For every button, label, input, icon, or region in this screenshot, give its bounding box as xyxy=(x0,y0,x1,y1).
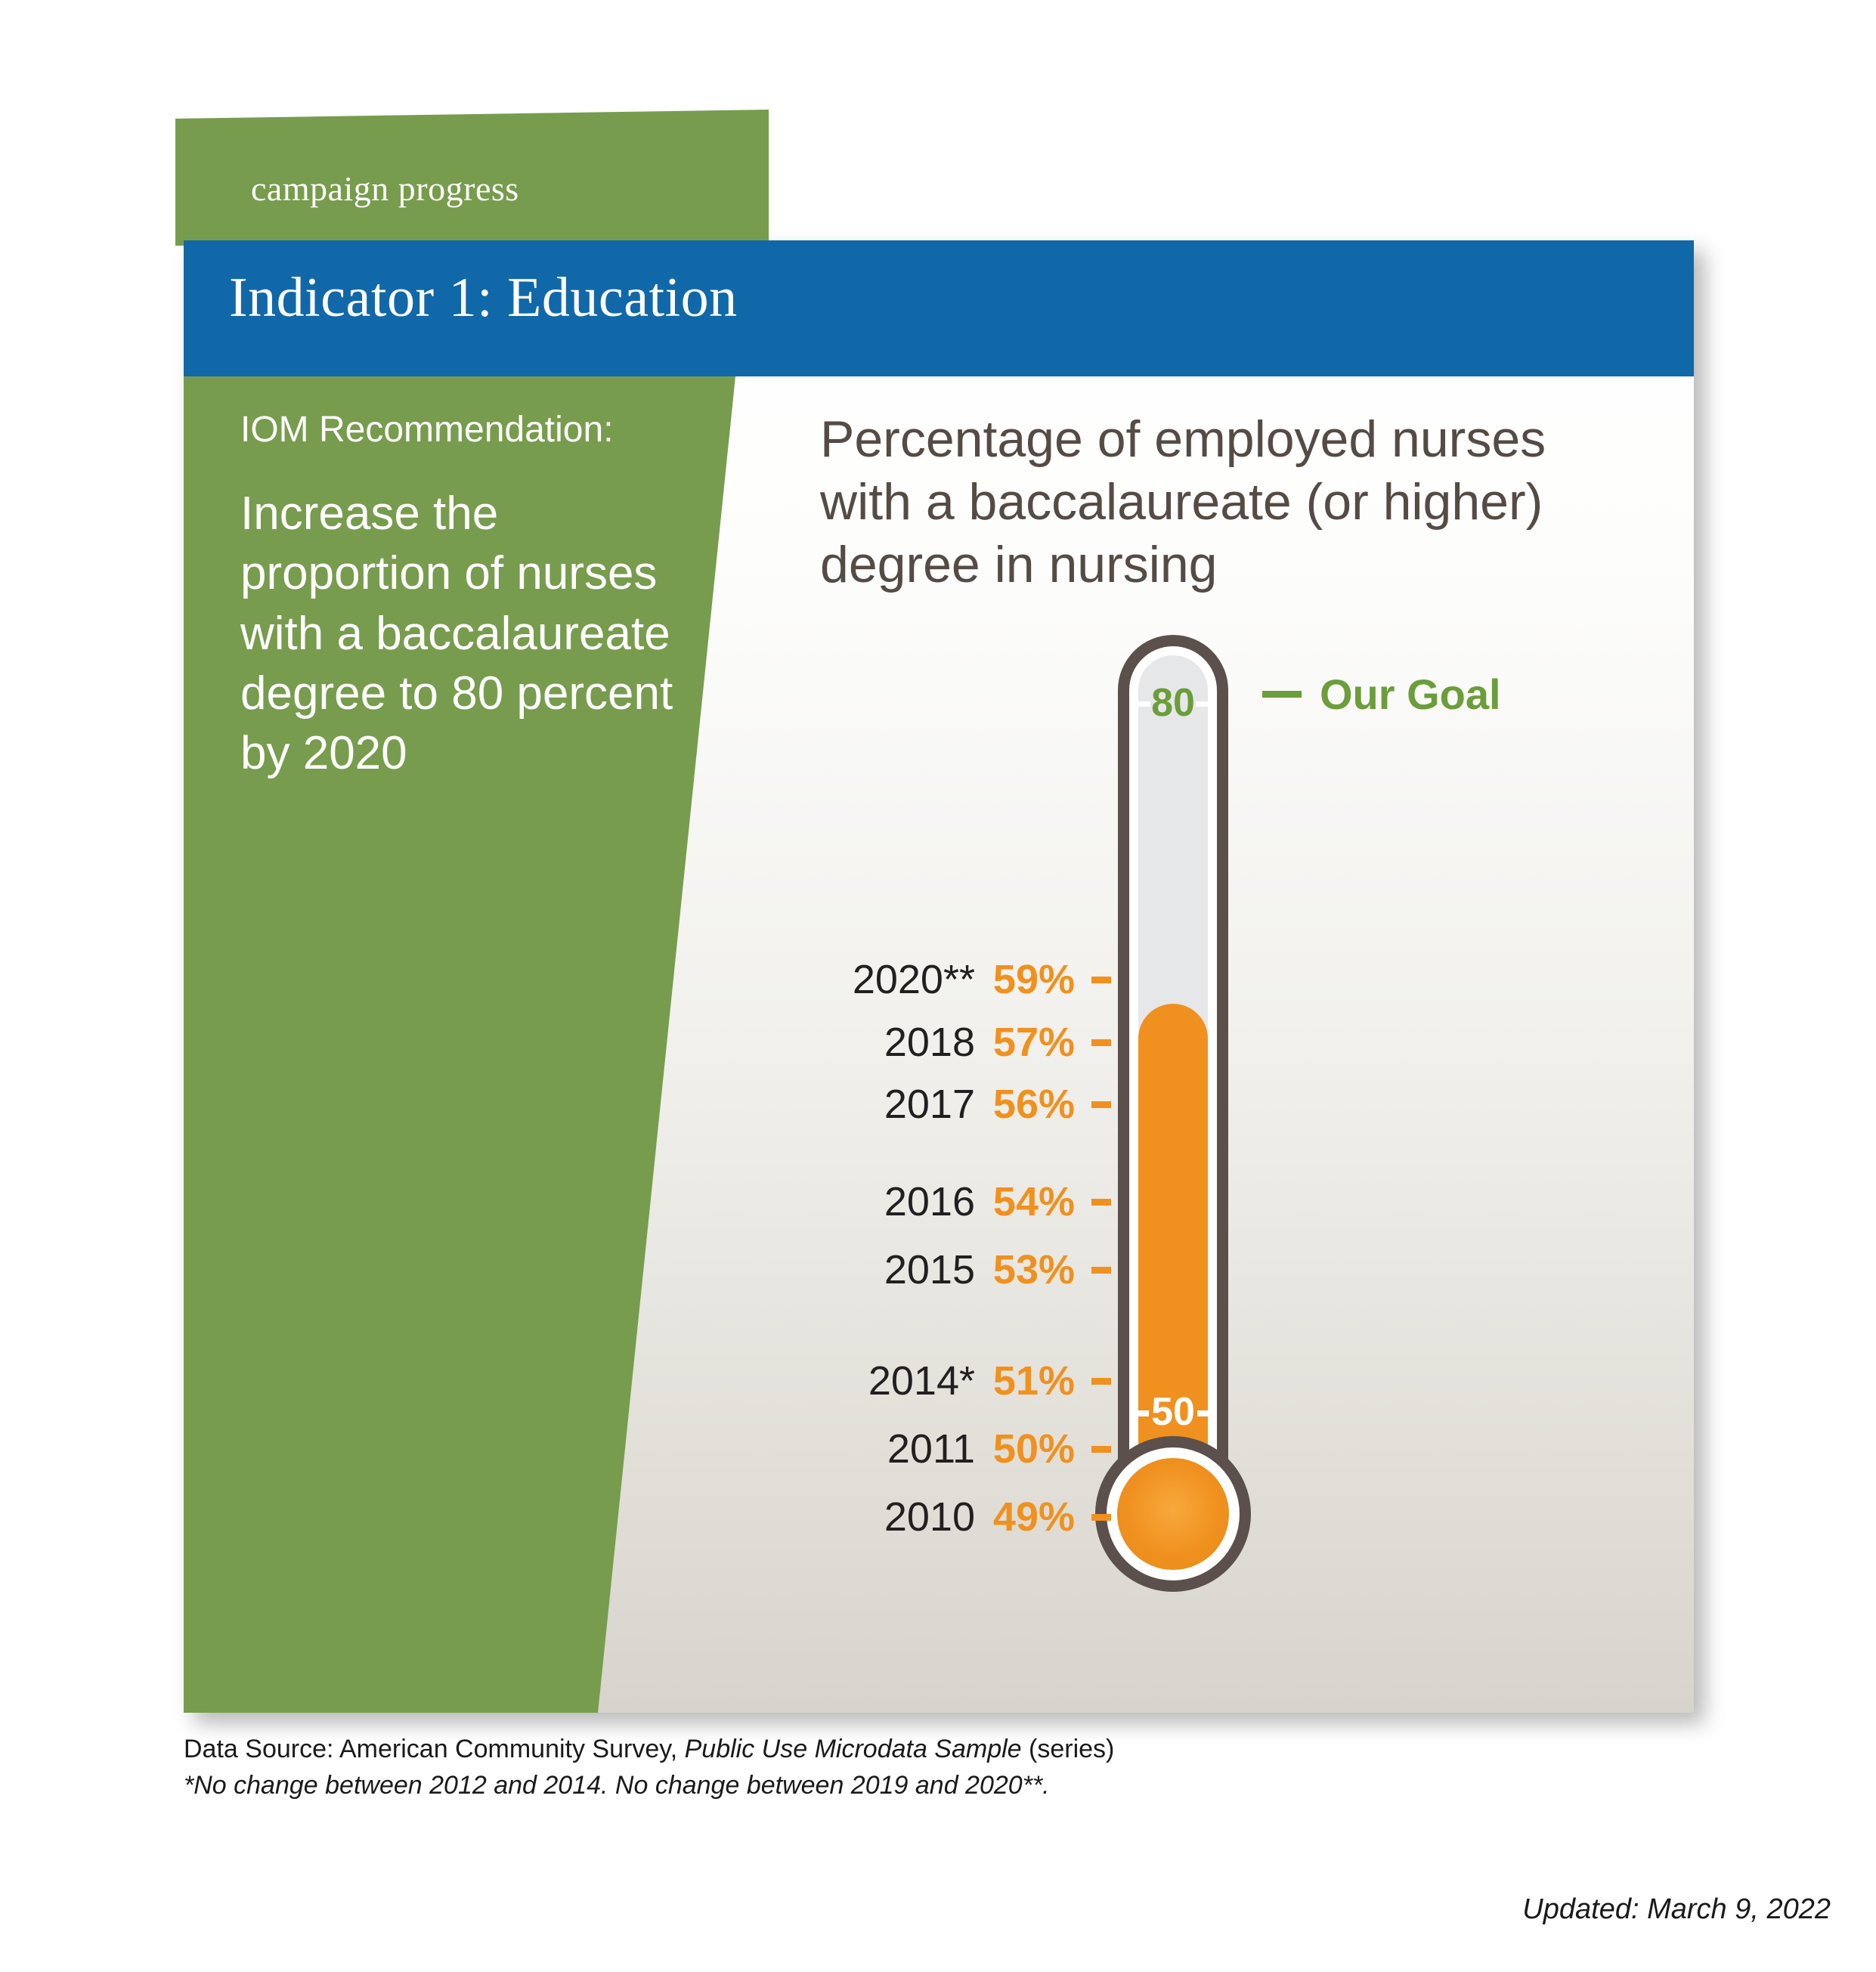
goal-marker-value: 80 xyxy=(1138,682,1208,724)
iom-recommendation-text: Increase the proportion of nurses with a… xyxy=(240,484,709,784)
year-row: 201150% xyxy=(824,1426,1111,1472)
goal-legend: Our Goal xyxy=(1262,670,1501,719)
year-tick-icon xyxy=(1091,1267,1111,1274)
year-row: 201857% xyxy=(824,1019,1111,1066)
chart-title: Percentage of employed nurses with a bac… xyxy=(820,408,1629,596)
year-tick-icon xyxy=(1091,1199,1111,1206)
updated-date: Updated: March 9, 2022 xyxy=(1522,1893,1831,1926)
thermometer-bulb-fill xyxy=(1117,1458,1229,1570)
campaign-progress-label: campaign progress xyxy=(251,169,519,209)
year-percentage: 54% xyxy=(980,1178,1075,1225)
year-label: 2018 xyxy=(824,1019,980,1066)
year-label: 2015 xyxy=(824,1246,980,1293)
goal-legend-label: Our Goal xyxy=(1320,670,1501,719)
year-row: 201654% xyxy=(824,1178,1111,1225)
year-label: 2020** xyxy=(824,956,980,1003)
year-percentage: 56% xyxy=(980,1081,1075,1128)
footnote-asterisk-note: *No change between 2012 and 2014. No cha… xyxy=(184,1767,1469,1803)
data-source-line: Data Source: American Community Survey, … xyxy=(184,1731,1469,1767)
year-percentage: 59% xyxy=(980,956,1075,1003)
year-percentage: 50% xyxy=(980,1426,1075,1472)
thermometer-chart: 80 50 xyxy=(1105,635,1241,1678)
footnotes: Data Source: American Community Survey, … xyxy=(184,1731,1469,1804)
year-row: 201049% xyxy=(824,1494,1111,1540)
iom-recommendation-label: IOM Recommendation: xyxy=(240,409,614,450)
year-label: 2014* xyxy=(824,1357,980,1404)
indicator-header-bar: Indicator 1: Education xyxy=(184,240,1694,376)
year-tick-icon xyxy=(1091,1039,1111,1046)
campaign-progress-tab: campaign progress xyxy=(175,110,772,246)
goal-dash-icon xyxy=(1262,691,1302,698)
data-source-title: Public Use Microdata Sample xyxy=(685,1735,1022,1763)
data-source-prefix: Data Source: American Community Survey, xyxy=(184,1735,685,1763)
year-tick-icon xyxy=(1091,1101,1111,1108)
year-tick-icon xyxy=(1091,1378,1111,1385)
year-row: 2014*51% xyxy=(824,1357,1111,1404)
year-row: 201756% xyxy=(824,1081,1111,1128)
year-percentage: 51% xyxy=(980,1357,1075,1404)
data-source-suffix: (series) xyxy=(1022,1735,1115,1763)
year-tick-icon xyxy=(1091,977,1111,983)
year-label: 2016 xyxy=(824,1178,980,1225)
year-percentage: 49% xyxy=(980,1494,1075,1540)
year-tick-icon xyxy=(1091,1446,1111,1453)
year-percentage: 57% xyxy=(980,1019,1075,1066)
year-tick-icon xyxy=(1091,1514,1111,1521)
year-label: 2017 xyxy=(824,1081,980,1128)
year-label: 2011 xyxy=(824,1426,980,1472)
year-row: 2020**59% xyxy=(824,956,1111,1003)
year-percentage: 53% xyxy=(980,1246,1075,1293)
year-label: 2010 xyxy=(824,1494,980,1540)
page-title: Indicator 1: Education xyxy=(229,266,738,330)
year-row: 201553% xyxy=(824,1246,1111,1293)
mid-marker-value: 50 xyxy=(1138,1391,1208,1433)
